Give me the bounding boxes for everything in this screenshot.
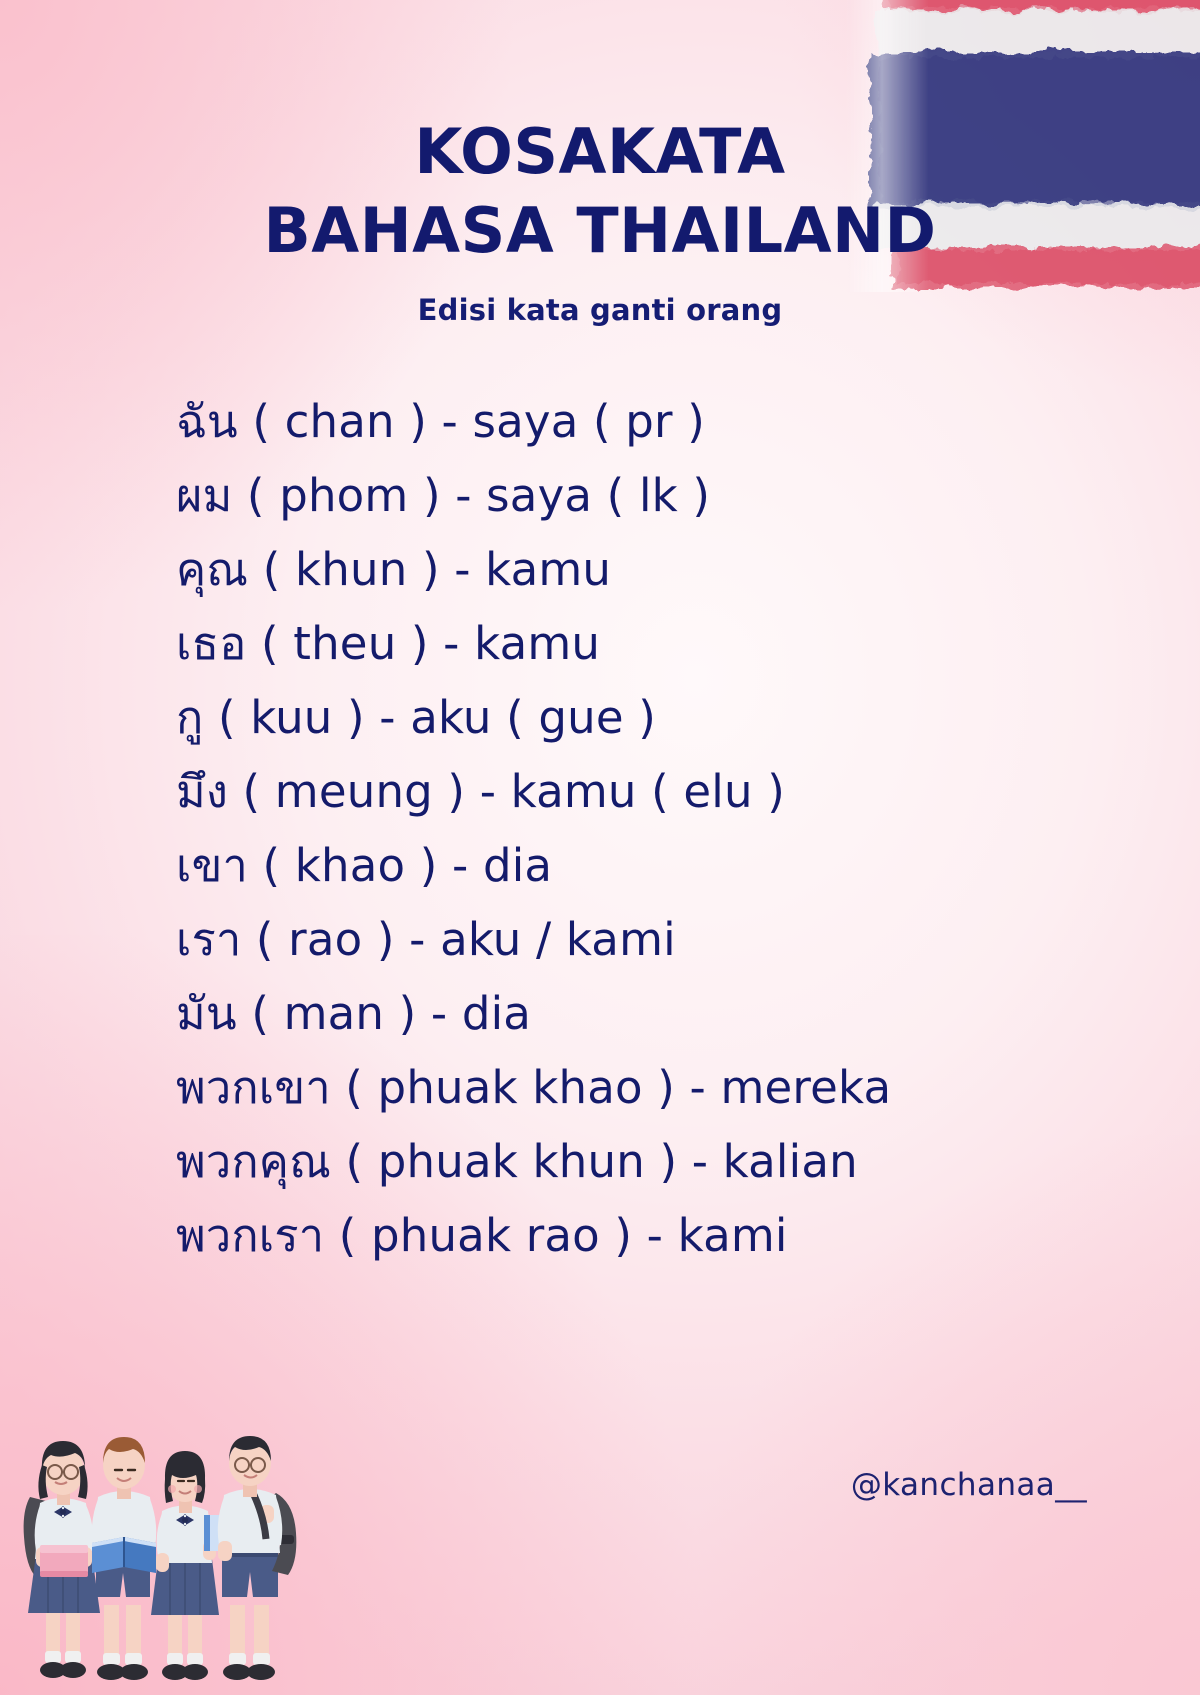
list-item: คุณ ( khun ) - kamu (176, 533, 1076, 607)
poster-header: KOSAKATA BAHASA THAILAND Edisi kata gant… (0, 0, 1200, 327)
list-item: กู ( kuu ) - aku ( gue ) (176, 681, 1076, 755)
student-3 (151, 1451, 226, 1680)
list-item: ฉัน ( chan ) - saya ( pr ) (176, 385, 1076, 459)
student-2 (92, 1437, 156, 1680)
title-line-2: BAHASA THAILAND (0, 191, 1200, 270)
list-item: เรา ( rao ) - aku / kami (176, 903, 1076, 977)
list-item: มึง ( meung ) - kamu ( elu ) (176, 755, 1076, 829)
list-item: พวกเขา ( phuak khao ) - mereka (176, 1051, 1076, 1125)
list-item: ผม ( phom ) - saya ( lk ) (176, 459, 1076, 533)
four-students-illustration (18, 1365, 308, 1695)
list-item: พวกคุณ ( phuak khun ) - kalian (176, 1125, 1076, 1199)
list-item: พวกเรา ( phuak rao ) - kami (176, 1199, 1076, 1273)
page-title: KOSAKATA BAHASA THAILAND (0, 112, 1200, 271)
author-handle: @kanchanaa__ (851, 1467, 1087, 1503)
list-item: เขา ( khao ) - dia (176, 829, 1076, 903)
vocabulary-list: ฉัน ( chan ) - saya ( pr ) ผม ( phom ) -… (176, 385, 1076, 1273)
list-item: มัน ( man ) - dia (176, 977, 1076, 1051)
page-subtitle: Edisi kata ganti orang (0, 293, 1200, 327)
student-4 (218, 1436, 297, 1680)
student-1 (24, 1441, 100, 1678)
title-line-1: KOSAKATA (414, 115, 785, 188)
list-item: เธอ ( theu ) - kamu (176, 607, 1076, 681)
